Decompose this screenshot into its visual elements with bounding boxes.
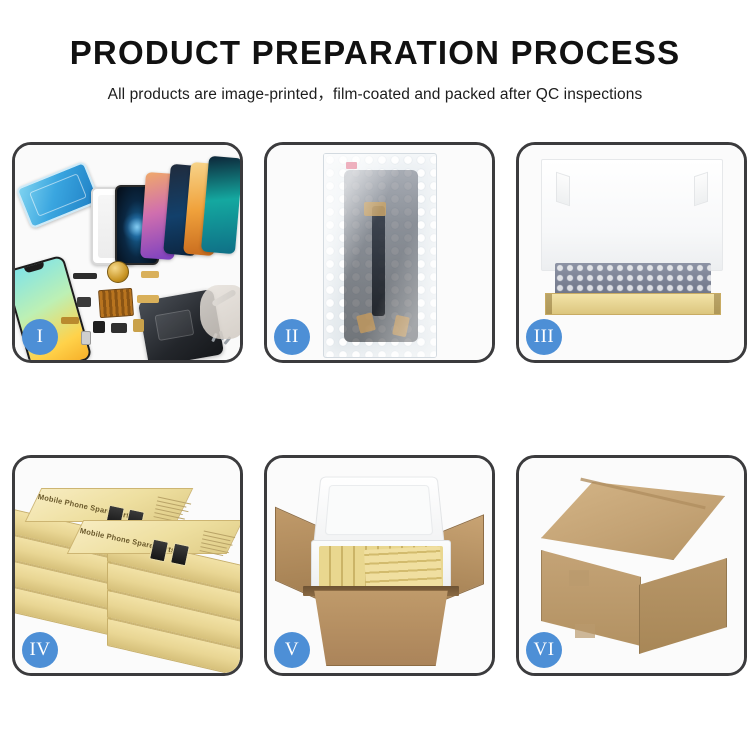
- carton-top-face: [541, 482, 725, 560]
- process-step-panel-6: VI: [516, 455, 747, 676]
- hand-icon: [200, 285, 240, 339]
- flex-cable-icon: [137, 295, 159, 303]
- spare-part-chip-icon: [111, 323, 127, 333]
- step-badge-1: I: [22, 319, 58, 355]
- carton-front-icon: [305, 590, 457, 666]
- page-title: PRODUCT PREPARATION PROCESS: [0, 36, 750, 71]
- lid-side-flap-right: [694, 172, 708, 207]
- process-step-panel-1: I: [12, 142, 243, 363]
- process-step-panel-4: Mobile Phone Spare Parts Mobile Phone Sp…: [12, 455, 243, 676]
- product-preparation-infographic: PRODUCT PREPARATION PROCESS All products…: [0, 0, 750, 750]
- process-step-panel-3: III: [516, 142, 747, 363]
- speaker-module-icon: [107, 261, 129, 283]
- process-step-panel-2: II: [264, 142, 495, 363]
- lid-side-flap-left: [556, 172, 570, 207]
- carton-tape-patch: [569, 570, 589, 586]
- connector-icon: [364, 202, 386, 216]
- battery-connector-icon: [73, 273, 97, 279]
- step-badge-6: VI: [526, 632, 562, 668]
- circuit-board-icon: [98, 288, 134, 318]
- bubble-wrap-bag-icon: [323, 153, 437, 358]
- qc-sticker-icon: [346, 162, 357, 169]
- spare-part-chip-icon: [133, 319, 144, 332]
- step-badge-4: IV: [22, 632, 58, 668]
- foam-lid-icon: [313, 477, 445, 546]
- step-badge-3: III: [526, 319, 562, 355]
- carton-tape-patch: [575, 624, 595, 638]
- page-subtitle: All products are image-printed，film-coat…: [0, 82, 750, 104]
- spare-part-chip-icon: [77, 297, 91, 307]
- white-box-lid-icon: [541, 159, 723, 271]
- carton-side-face: [639, 558, 727, 654]
- header: PRODUCT PREPARATION PROCESS All products…: [0, 0, 750, 104]
- process-step-grid: I II: [12, 142, 738, 683]
- spare-part-chip-icon: [81, 331, 91, 345]
- yellow-box-front-icon: [545, 293, 721, 315]
- flex-cable-icon: [372, 206, 385, 316]
- step-badge-2: II: [274, 319, 310, 355]
- packed-yellow-boxes-icon: [364, 546, 442, 590]
- process-step-panel-5: V: [264, 455, 495, 676]
- flex-cable-icon: [61, 317, 79, 324]
- step-badge-5: V: [274, 632, 310, 668]
- bubble-wrapped-contents-icon: [555, 263, 711, 295]
- flex-cable-icon: [141, 271, 159, 278]
- spare-part-chip-icon: [93, 321, 105, 333]
